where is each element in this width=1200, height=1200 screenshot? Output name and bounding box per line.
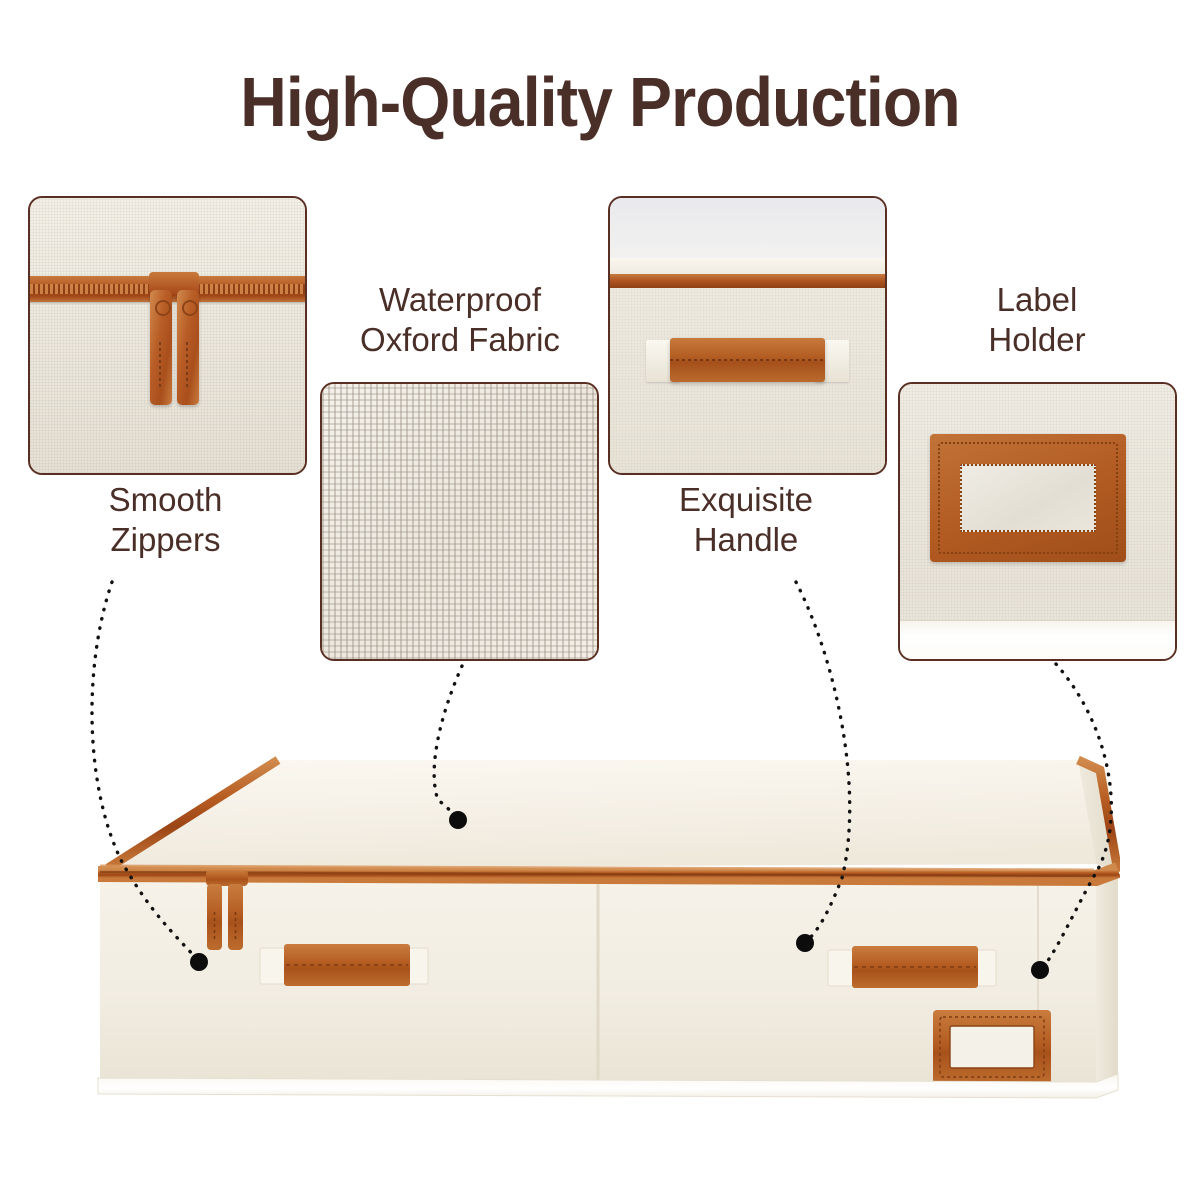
zipper-photo	[30, 198, 305, 473]
zipper-pull-right-icon	[177, 290, 199, 405]
feature-caption-smooth-zippers: Smooth Zippers	[18, 480, 313, 561]
storage-bag-illustration	[78, 752, 1120, 1112]
feature-tile-smooth-zippers[interactable]	[28, 196, 307, 475]
bag-label-holder-window	[950, 1026, 1034, 1068]
feature-caption-waterproof-oxford-fabric: Waterproof Oxford Fabric	[315, 280, 605, 361]
infographic-canvas: High-Quality Production Smooth Zippers W…	[0, 0, 1200, 1200]
photo-backdrop	[610, 198, 885, 258]
bag-zipper-pull-left-icon	[207, 884, 222, 950]
handle-photo	[610, 198, 885, 473]
zipper-pull-left-icon	[150, 290, 172, 405]
oxford-weave-texture	[322, 384, 597, 659]
zipper-pull-stitching	[186, 342, 188, 388]
zipper-pull-stitching	[159, 342, 161, 388]
bag-right-side-panel	[1096, 872, 1118, 1082]
feature-caption-label-holder: Label Holder	[898, 280, 1176, 361]
zipper-pull-hole	[155, 300, 171, 316]
bag-zipper-pull-right-icon	[228, 884, 243, 950]
lid-edge	[610, 258, 885, 274]
feature-tile-label-holder[interactable]	[898, 382, 1177, 661]
feature-tile-waterproof-oxford-fabric[interactable]	[320, 382, 599, 661]
page-title: High-Quality Production	[48, 62, 1152, 142]
leather-label-frame	[930, 434, 1126, 562]
product-storage-bag	[78, 752, 1120, 1112]
leather-zipper-trim	[610, 274, 885, 288]
fabric-photo	[322, 384, 597, 659]
bag-zipper-slider	[206, 870, 248, 886]
zipper-pull-hole	[182, 300, 198, 316]
label-window	[960, 464, 1096, 532]
feature-caption-exquisite-handle: Exquisite Handle	[600, 480, 892, 561]
label-holder-photo	[900, 384, 1175, 659]
bag-base-piping	[900, 620, 1175, 659]
handle-stitching	[670, 359, 825, 361]
leather-handle-bar	[670, 338, 825, 382]
feature-tile-exquisite-handle[interactable]	[608, 196, 887, 475]
